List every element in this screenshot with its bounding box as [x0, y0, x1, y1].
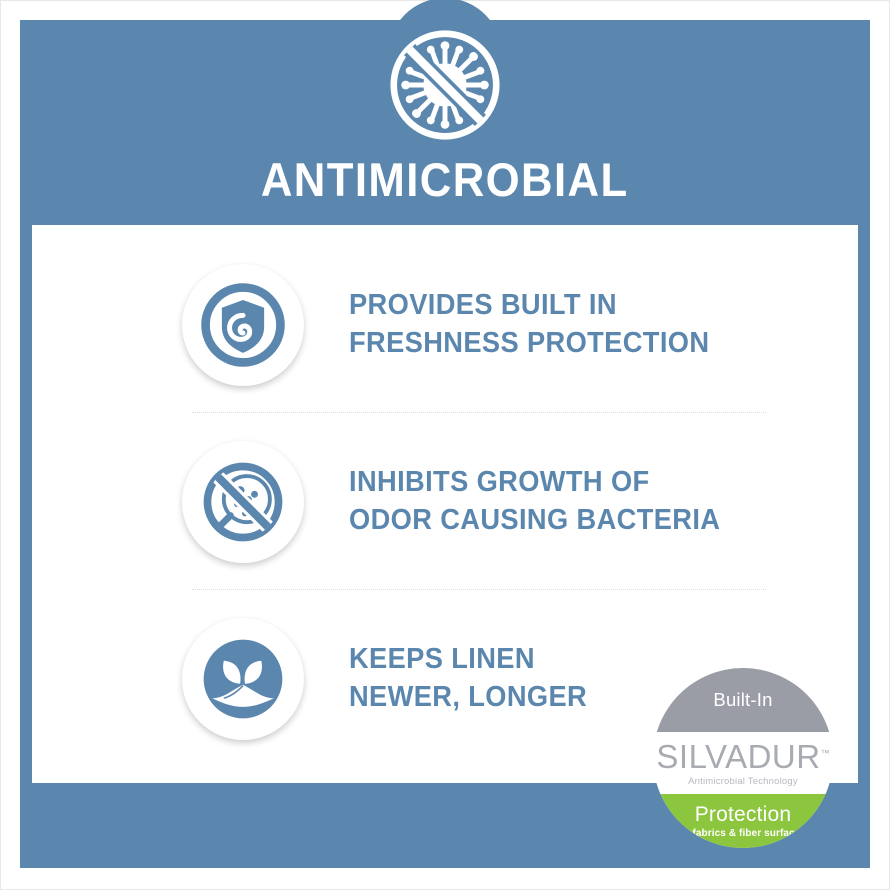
leaf-sprout-icon	[182, 618, 304, 740]
silvadur-built-in-label: Built-In	[713, 689, 772, 711]
feature-row-freshness: PROVIDES BUILT IN FRESHNESS PROTECTION	[32, 237, 858, 412]
feature-line-2: NEWER, LONGER	[349, 679, 587, 716]
silvadur-top-band: Built-In	[653, 668, 833, 732]
feature-line-2: FRESHNESS PROTECTION	[349, 325, 709, 362]
silvadur-bottom-band: Protection to fabrics & fiber surfaces	[653, 794, 833, 848]
no-bacteria-icon	[182, 441, 304, 563]
shield-swirl-icon	[182, 264, 304, 386]
blue-panel: ANTIMICROBIAL PROVIDES BUILT IN FRESHNES…	[20, 20, 870, 868]
feature-line-2: ODOR CAUSING BACTERIA	[349, 502, 720, 539]
silvadur-badge: Built-In SILVADUR™ Antimicrobial Technol…	[653, 668, 833, 848]
silvadur-wordmark: SILVADUR™	[656, 740, 829, 773]
silvadur-tagline: Antimicrobial Technology	[688, 776, 798, 787]
page-title: ANTIMICROBIAL	[261, 156, 629, 203]
poster-header: ANTIMICROBIAL	[20, 20, 870, 225]
feature-line-1: PROVIDES BUILT IN	[349, 289, 617, 321]
feature-text-linen: KEEPS LINEN NEWER, LONGER	[349, 641, 587, 715]
feature-line-1: KEEPS LINEN	[349, 643, 535, 675]
silvadur-trademark: ™	[821, 748, 830, 758]
silvadur-protection-subtitle: to fabrics & fiber surfaces	[680, 828, 806, 839]
feature-text-bacteria: INHIBITS GROWTH OF ODOR CAUSING BACTERIA	[349, 464, 720, 538]
feature-row-bacteria: INHIBITS GROWTH OF ODOR CAUSING BACTERIA	[32, 414, 858, 589]
feature-line-1: INHIBITS GROWTH OF	[349, 466, 650, 498]
silvadur-brand-text: SILVADUR	[656, 738, 820, 775]
silvadur-protection-title: Protection	[695, 804, 792, 825]
no-germ-icon	[386, 26, 504, 144]
feature-text-freshness: PROVIDES BUILT IN FRESHNESS PROTECTION	[349, 287, 709, 361]
silvadur-brand-band: SILVADUR™ Antimicrobial Technology	[653, 732, 833, 794]
poster: ANTIMICROBIAL PROVIDES BUILT IN FRESHNES…	[0, 0, 890, 890]
